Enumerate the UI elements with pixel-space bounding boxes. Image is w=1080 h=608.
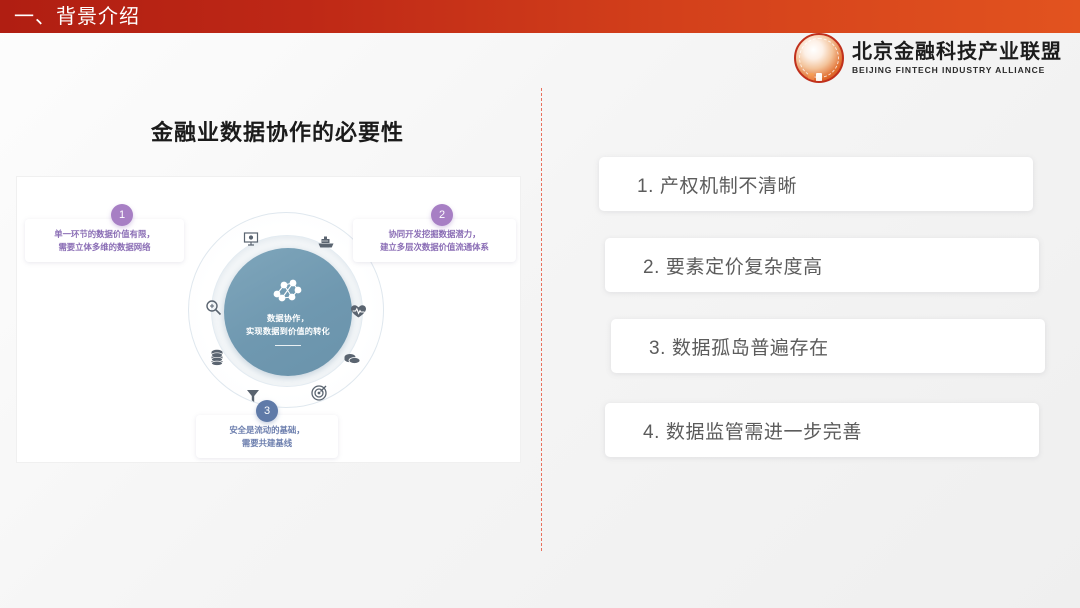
diagram-core-rule: [275, 345, 301, 346]
search-magnifier-icon: [203, 297, 223, 317]
list-item[interactable]: 2. 要素定价复杂度高: [605, 238, 1039, 292]
ship-icon: [316, 232, 336, 252]
diagram-core: 数据协作， 实现数据到价值的转化: [224, 248, 352, 376]
list-item-label: 1. 产权机制不清晰: [599, 171, 797, 198]
diagram-panel: 数据协作， 实现数据到价值的转化: [17, 177, 520, 462]
diagram-ring-middle: 数据协作， 实现数据到价值的转化: [211, 235, 363, 387]
right-column: 1. 产权机制不清晰 2. 要素定价复杂度高 3. 数据孤岛普遍存在 4. 数据…: [541, 33, 1080, 608]
section-title: 金融业数据协作的必要性: [151, 115, 404, 147]
header-bar: 一、背景介绍: [0, 0, 1080, 33]
callout-badge-3: 3: [256, 400, 278, 422]
callout-badge-2: 2: [431, 204, 453, 226]
callout-box-1: 单一环节的数据价值有限， 需要立体多维的数据网络: [25, 219, 184, 262]
list-item[interactable]: 4. 数据监管需进一步完善: [605, 403, 1039, 457]
list-item[interactable]: 1. 产权机制不清晰: [599, 157, 1033, 211]
callout-box-2: 协同开发挖掘数据潜力， 建立多层次数据价值流通体系: [353, 219, 516, 262]
list-item[interactable]: 3. 数据孤岛普遍存在: [611, 319, 1045, 373]
list-item-label: 4. 数据监管需进一步完善: [605, 417, 862, 444]
presentation-chart-icon: [241, 229, 261, 249]
list-item-label: 2. 要素定价复杂度高: [605, 252, 823, 279]
diagram-core-line1: 数据协作，: [267, 313, 309, 326]
callout-badge-1: 1: [111, 204, 133, 226]
target-icon: [309, 382, 329, 402]
diagram-core-line2: 实现数据到价值的转化: [246, 326, 330, 339]
heartbeat-icon: [348, 301, 368, 321]
list-item-label: 3. 数据孤岛普遍存在: [611, 333, 829, 360]
left-column: 金融业数据协作的必要性: [0, 33, 541, 608]
callout-text-2: 协同开发挖掘数据潜力， 建立多层次数据价值流通体系: [363, 228, 506, 254]
callout-text-1: 单一环节的数据价值有限， 需要立体多维的数据网络: [35, 228, 174, 254]
page-title: 一、背景介绍: [0, 7, 140, 27]
database-icon: [207, 347, 227, 367]
slide-root: 一、背景介绍 北京金融科技产业联盟 BEIJING FINTECH INDUST…: [0, 0, 1080, 608]
coins-icon: [342, 349, 362, 369]
network-nodes-icon: [271, 278, 305, 309]
callout-text-3: 安全是流动的基础， 需要共建基线: [206, 424, 328, 450]
